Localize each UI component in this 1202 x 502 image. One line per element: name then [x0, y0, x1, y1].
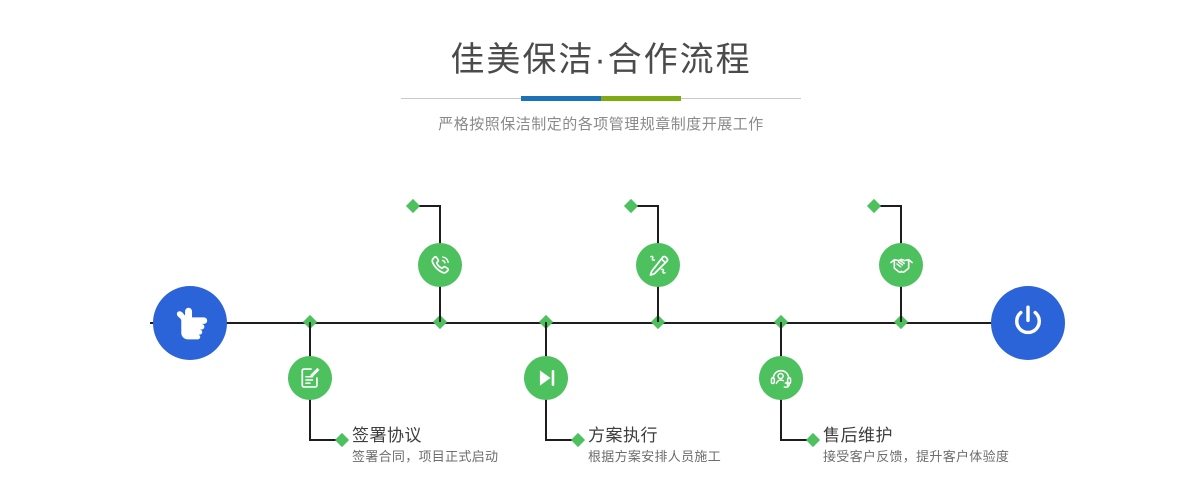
- divider-segment-green: [601, 96, 681, 101]
- pencil-icon: [645, 252, 671, 278]
- phone-call-icon: [427, 252, 453, 278]
- step-label-2: 签署协议 签署合同，项目正式启动: [352, 425, 498, 467]
- step-desc-6: 接受客户反馈，提升客户体验度: [823, 447, 1009, 467]
- label-marker-6: [806, 433, 820, 447]
- step-label-6: 售后维护 接受客户反馈，提升客户体验度: [823, 425, 1009, 467]
- label-marker-4: [571, 433, 585, 447]
- step-desc-4: 根据方案安排人员施工: [588, 447, 721, 467]
- step-title-4: 方案执行: [588, 425, 721, 447]
- step-title-6: 售后维护: [823, 425, 1009, 447]
- flow-end-node[interactable]: [991, 286, 1065, 360]
- handshake-icon: [888, 252, 915, 279]
- step-desc-2: 签署合同，项目正式启动: [352, 447, 498, 467]
- document-edit-icon: [297, 365, 323, 391]
- step-icon-5[interactable]: [879, 243, 923, 287]
- step-icon-2[interactable]: [288, 356, 332, 400]
- label-marker-5: [867, 199, 881, 213]
- step-icon-4[interactable]: [524, 356, 568, 400]
- step-icon-3[interactable]: [636, 243, 680, 287]
- step-icon-1[interactable]: [418, 243, 462, 287]
- page-header: 佳美保洁·合作流程 严格按照保洁制定的各项管理规章制度开展工作: [0, 0, 1202, 136]
- flow-diagram-page: 佳美保洁·合作流程 严格按照保洁制定的各项管理规章制度开展工作: [0, 0, 1202, 502]
- power-icon: [1008, 301, 1048, 346]
- step-title-2: 签署协议: [352, 425, 498, 447]
- play-skip-icon: [533, 365, 559, 391]
- flow-start-node[interactable]: [153, 286, 227, 360]
- step-label-4: 方案执行 根据方案安排人员施工: [588, 425, 721, 467]
- label-marker-1: [406, 199, 420, 213]
- page-subtitle: 严格按照保洁制定的各项管理规章制度开展工作: [0, 104, 1202, 136]
- label-marker-2: [335, 433, 349, 447]
- step-icon-6[interactable]: [759, 356, 803, 400]
- headset-support-icon: [768, 365, 794, 391]
- divider-segment-blue: [521, 96, 601, 101]
- label-marker-3: [624, 199, 638, 213]
- pointing-hand-icon: [169, 300, 211, 347]
- timeline-axis: [150, 322, 1052, 324]
- title-divider: [401, 94, 801, 104]
- page-title: 佳美保洁·合作流程: [0, 0, 1202, 82]
